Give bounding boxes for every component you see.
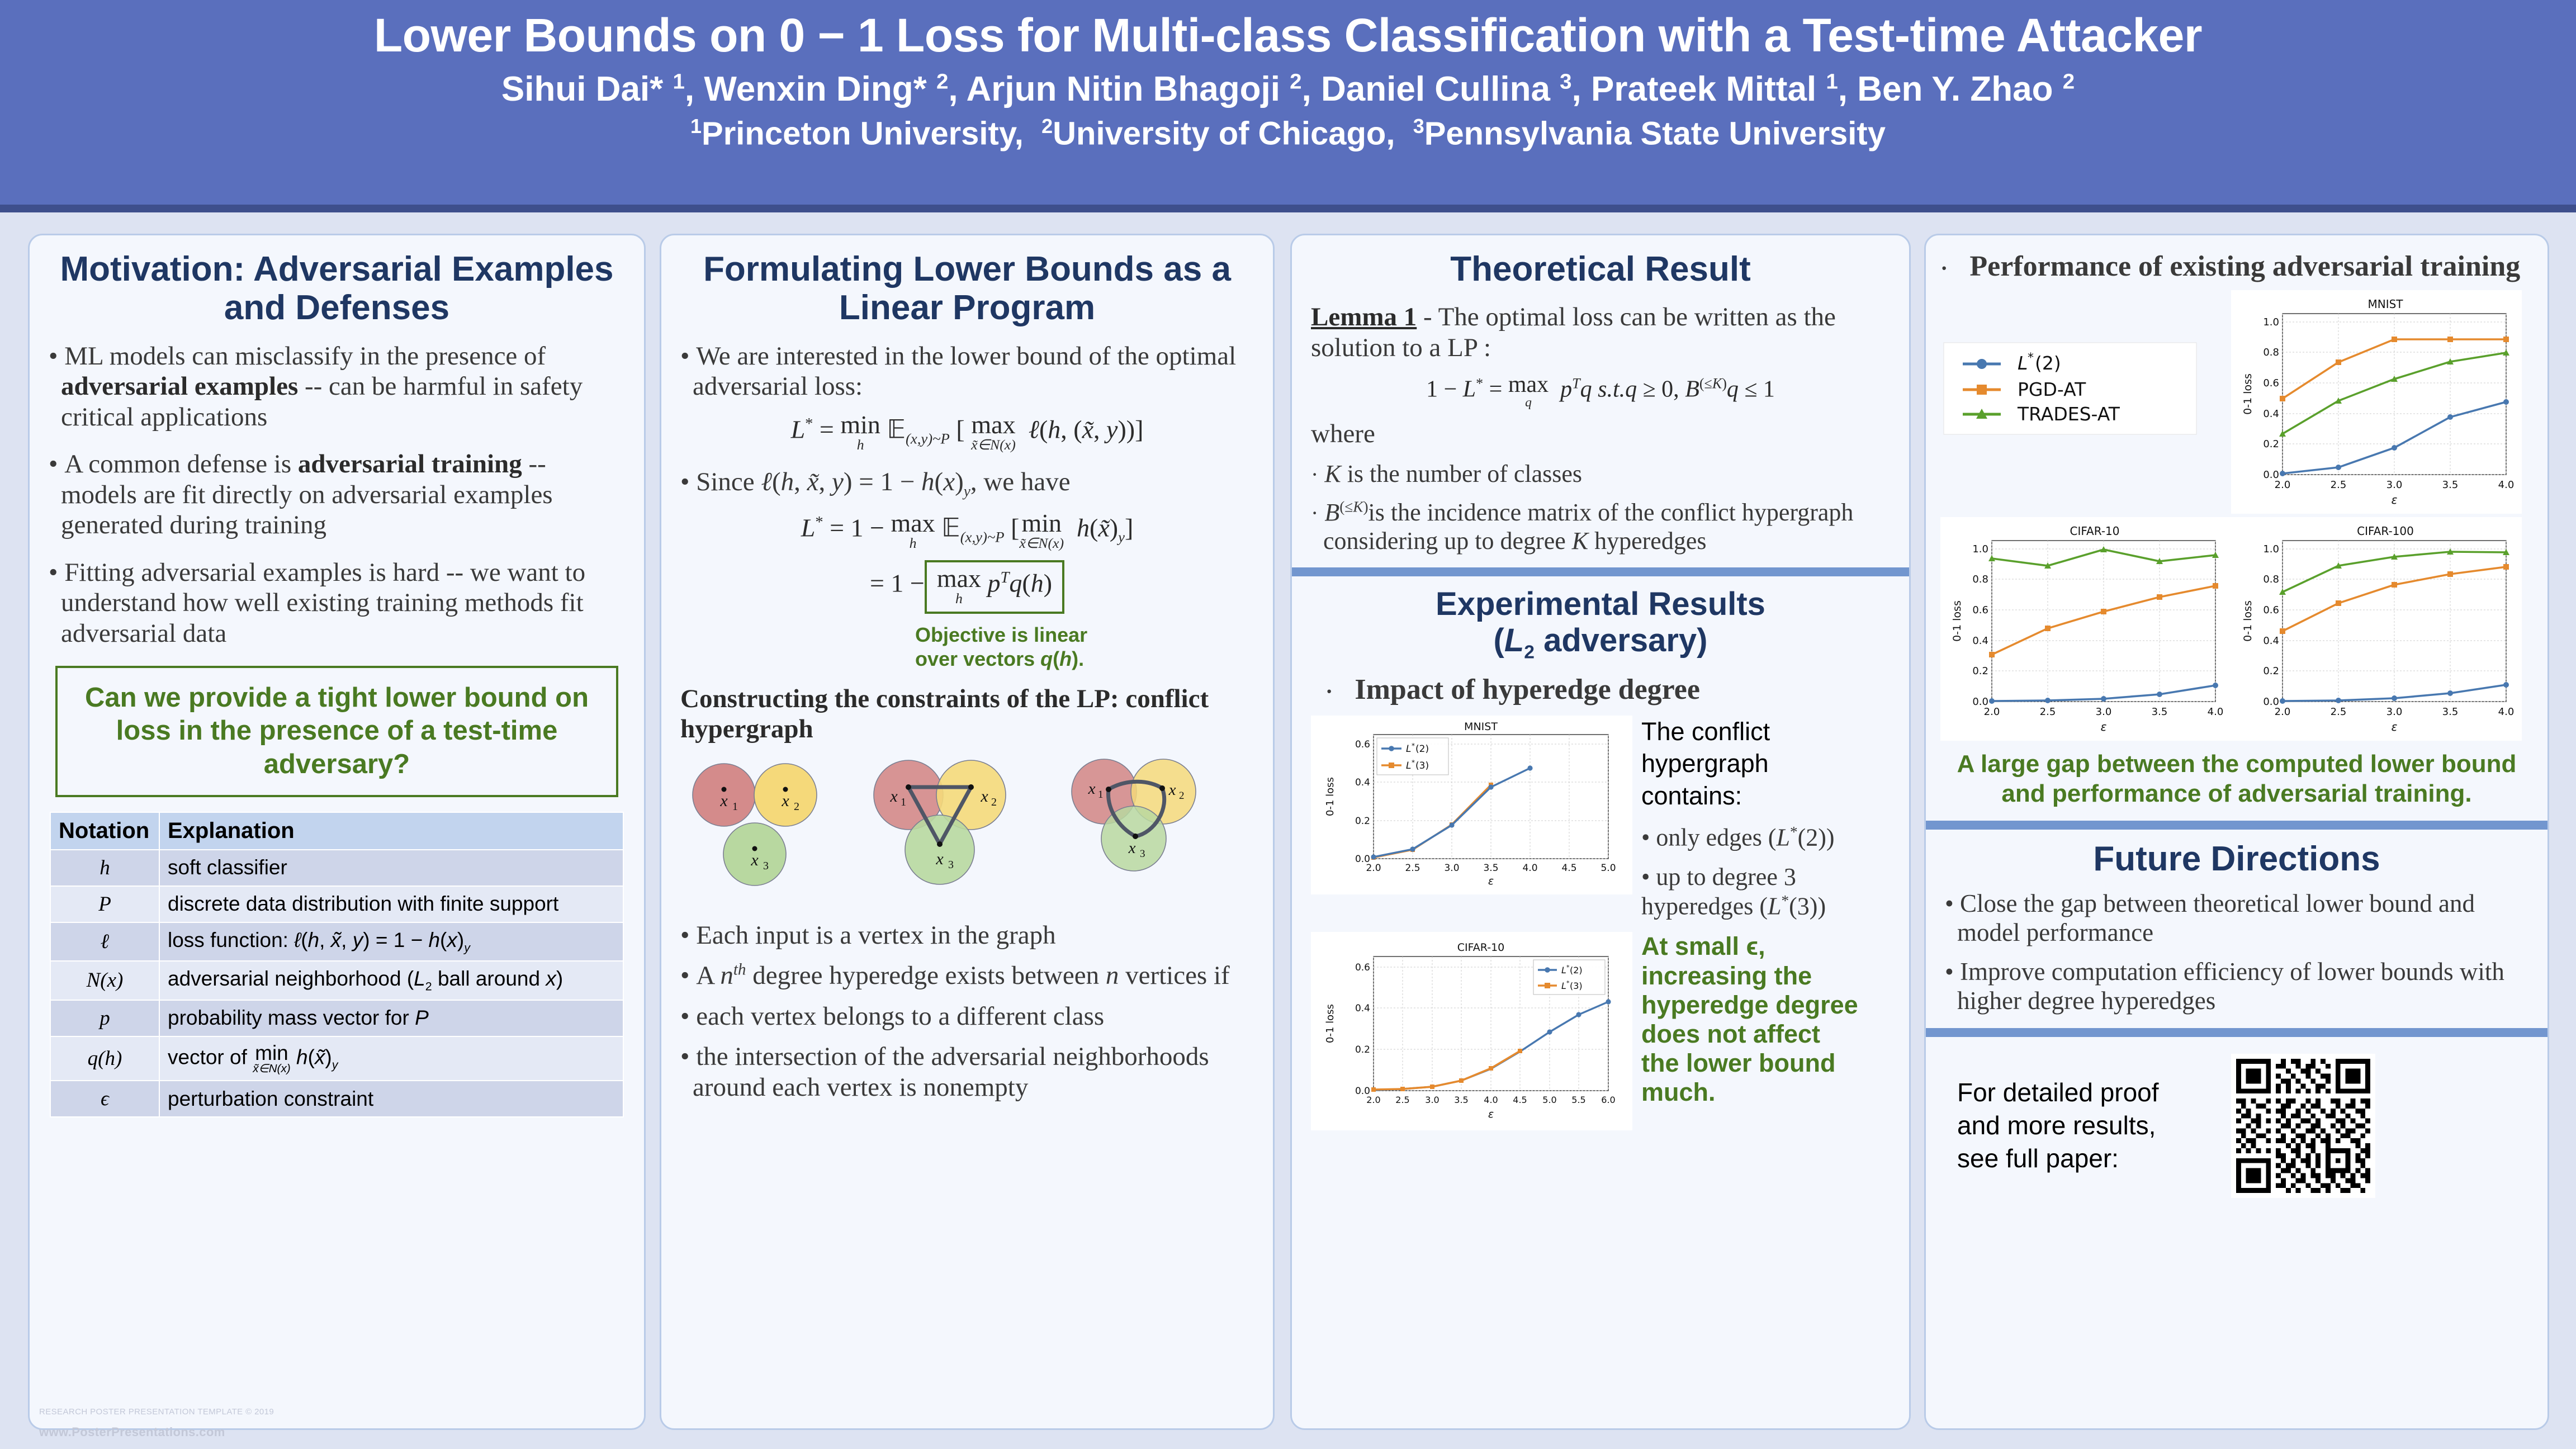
cell-symbol: N(x) [50, 961, 159, 1000]
chart-title: MNIST [1464, 721, 1498, 733]
svg-text:0.4: 0.4 [2263, 408, 2279, 420]
bullet-item: · K is the number of classes [1311, 460, 1890, 488]
notation-table: Notation Explanation h soft classifier P… [50, 812, 624, 1118]
chart-xlabel: ε [1488, 875, 1494, 887]
cell-explanation: perturbation constraint [159, 1081, 623, 1117]
svg-text:3.0: 3.0 [2096, 706, 2112, 718]
svg-text:2.0: 2.0 [1984, 706, 2000, 718]
svg-text:0.4: 0.4 [1972, 635, 1988, 647]
column-motivation: Motivation: Adversarial Examples and Def… [28, 234, 646, 1430]
subsection-performance-existing-at: · Performance of existing adversarial tr… [1940, 250, 2533, 283]
chart-c4-cifar10-svg: CIFAR-10 0.00.2 0.40.6 [1944, 520, 2228, 737]
notes-title: The conflict hypergraph contains: [1641, 716, 1876, 812]
conflict-hypergraph-diagram: x 1 x 2 x 3 [680, 755, 1254, 906]
cell-symbol: h [50, 850, 159, 886]
svg-text:2.0: 2.0 [1366, 863, 1381, 874]
table-row: P discrete data distribution with finite… [50, 886, 623, 922]
chart-c4-cifar100-svg: CIFAR-100 0.00.2 0.40.6 [2234, 520, 2518, 737]
bullet-item: • Improve computation efficiency of lowe… [1945, 957, 2528, 1015]
hypergraph-case-no-edge: x 1 x 2 x 3 [693, 764, 817, 885]
results-row-1: MNIST [1311, 716, 1890, 921]
bullet-item: · B(≤K)is the incidence matrix of the co… [1311, 498, 1890, 555]
svg-text:0.6: 0.6 [1972, 604, 1988, 616]
svg-text:3.5: 3.5 [1454, 1095, 1468, 1105]
cell-symbol: p [50, 1000, 159, 1036]
svg-text:L: L [1561, 981, 1566, 991]
chart-ylabel: 0-1 loss [2242, 373, 2254, 415]
svg-text:6.0: 6.0 [1601, 1095, 1615, 1105]
chart-ylabel: 0-1 loss [2242, 600, 2254, 642]
lemma-statement: Lemma 1 - The optimal loss can be writte… [1311, 302, 1890, 363]
bullet-item: • Close the gap between theoretical lowe… [1945, 889, 2528, 947]
table-row: ℓ loss function: ℓ(h, x̃, y) = 1 − h(x)y [50, 922, 623, 961]
bullet-item: • Each input is a vertex in the graph [680, 920, 1254, 951]
chart-c3-cifar10-svg: CIFAR-10 [1313, 934, 1630, 1128]
svg-text:0.6: 0.6 [2263, 377, 2279, 389]
svg-text:3.0: 3.0 [1425, 1095, 1439, 1105]
bullet-item: • A common defense is adversarial traini… [49, 449, 625, 541]
svg-text:0.2: 0.2 [2263, 438, 2279, 450]
perf-row-top: L * (2) PGD-AT TRADES-AT MNIST [1940, 290, 2533, 514]
poster-header: Lower Bounds on 0 − 1 Loss for Multi-cla… [0, 0, 2576, 212]
cell-symbol: q(h) [50, 1036, 159, 1081]
svg-text:2.0: 2.0 [2275, 479, 2291, 491]
svg-text:2.0: 2.0 [1366, 1095, 1380, 1105]
cell-explanation: adversarial neighborhood (L2 ball around… [159, 961, 623, 1000]
green-callout-gap: A large gap between the computed lower b… [1949, 750, 2524, 809]
svg-text:5.0: 5.0 [1542, 1095, 1556, 1105]
cell-explanation: loss function: ℓ(h, x̃, y) = 1 − h(x)y [159, 922, 623, 961]
svg-text:1: 1 [1098, 789, 1104, 801]
chart-c3-mnist: MNIST [1311, 716, 1632, 894]
cell-symbol: P [50, 886, 159, 922]
svg-text:L: L [2018, 352, 2028, 374]
svg-text:1: 1 [732, 801, 738, 813]
svg-text:2: 2 [794, 801, 799, 813]
svg-text:x: x [781, 792, 789, 810]
bullet-item: • Fitting adversarial examples is hard -… [49, 557, 625, 649]
chart-title: CIFAR-10 [2070, 524, 2120, 538]
perf-row-bottom: CIFAR-10 0.00.2 0.40.6 [1940, 517, 2533, 741]
table-row: p probability mass vector for P [50, 1000, 623, 1036]
equation-optimal-loss: L* = minh 𝔼(x,y)~P [ maxx̃∈N(x) ℓ(h, (x̃… [680, 412, 1254, 452]
chart-ylabel: 0-1 loss [1324, 1004, 1336, 1043]
svg-text:5.5: 5.5 [1571, 1095, 1585, 1105]
svg-text:x: x [1168, 781, 1176, 799]
green-callout-text: At small ϵ, increasing the hyperedge deg… [1641, 932, 1865, 1107]
svg-text:2.5: 2.5 [1405, 863, 1420, 874]
chart-c3-mnist-svg: MNIST [1313, 718, 1630, 892]
col-header-explanation: Explanation [159, 812, 623, 850]
chart-c4-cifar100: CIFAR-100 0.00.2 0.40.6 [2231, 517, 2522, 741]
section-divider [1292, 567, 1909, 576]
author-list: Sihui Dai* 1, Wenxin Ding* 2, Arjun Niti… [0, 69, 2576, 109]
svg-text:0.6: 0.6 [1355, 739, 1370, 750]
svg-text:4.0: 4.0 [2498, 706, 2515, 718]
boxed-objective: maxh pTq(h) [925, 560, 1064, 614]
section-heading-theoretical-result: Theoretical Result [1311, 250, 1890, 288]
svg-text:4.5: 4.5 [1561, 863, 1576, 874]
svg-text:0.8: 0.8 [1972, 574, 1988, 585]
svg-text:x: x [1128, 839, 1136, 857]
svg-text:*: * [1412, 742, 1415, 750]
svg-text:4.0: 4.0 [2208, 706, 2224, 718]
svg-text:0.4: 0.4 [1355, 777, 1370, 788]
chart-xlabel: ε [1488, 1108, 1494, 1120]
section-heading-motivation: Motivation: Adversarial Examples and Def… [49, 250, 625, 328]
svg-text:3.0: 3.0 [2386, 479, 2403, 491]
svg-text:0.2: 0.2 [1972, 665, 1988, 677]
chart-title: MNIST [2367, 297, 2403, 311]
bullet-item: • up to degree 3 hyperedges (L*(3)) [1641, 863, 1876, 921]
svg-text:2.0: 2.0 [2275, 706, 2291, 718]
svg-text:5.0: 5.0 [1600, 863, 1616, 874]
svg-text:0.8: 0.8 [2263, 574, 2279, 585]
green-callout-hyperedge: At small ϵ, increasing the hyperedge deg… [1641, 932, 1865, 1107]
column-performance: · Performance of existing adversarial tr… [1924, 234, 2549, 1430]
bullet-item: • Since ℓ(h, x̃, y) = 1 − h(x)y, we have [680, 467, 1254, 500]
chart-legend: L * (2) L * (3) [1533, 960, 1605, 995]
svg-text:L: L [1406, 744, 1411, 755]
svg-text:x: x [1088, 780, 1096, 798]
svg-text:2: 2 [991, 796, 997, 808]
svg-text:0.4: 0.4 [2263, 635, 2279, 647]
chart-xlabel: ε [2392, 493, 2398, 506]
svg-text:1: 1 [901, 796, 906, 808]
svg-text:x: x [935, 850, 944, 868]
chart-c4-cifar10: CIFAR-10 0.00.2 0.40.6 [1940, 517, 2231, 741]
chart-c3-cifar10: CIFAR-10 [1311, 932, 1632, 1130]
footer-url: www.PosterPresentations.com [39, 1420, 274, 1444]
svg-text:4.5: 4.5 [1513, 1095, 1527, 1105]
svg-text:x: x [750, 851, 759, 869]
bullet-item: • We are interested in the lower bound o… [680, 341, 1254, 402]
chart-ylabel: 0-1 loss [1324, 777, 1336, 816]
svg-text:x: x [980, 787, 988, 806]
svg-text:*: * [1412, 759, 1415, 766]
bullet-item: • A nth degree hyperedge exists between … [680, 960, 1254, 991]
svg-text:2.5: 2.5 [2040, 706, 2056, 718]
svg-text:0.8: 0.8 [2263, 347, 2279, 358]
qr-code[interactable] [2231, 1054, 2375, 1198]
svg-text:3: 3 [763, 860, 769, 872]
column-formulation: Formulating Lower Bounds as a Linear Pro… [660, 234, 1275, 1430]
section-divider [1926, 1028, 2547, 1037]
svg-text:(3): (3) [1570, 981, 1583, 991]
svg-text:4.0: 4.0 [2498, 479, 2515, 491]
svg-text:3.5: 3.5 [2442, 479, 2459, 491]
table-row: q(h) vector of minx̃∈N(x) h(x̃)y [50, 1036, 623, 1081]
results-row-2: CIFAR-10 [1311, 932, 1890, 1130]
svg-text:3.0: 3.0 [2386, 706, 2403, 718]
chart-c4-mnist-svg: MNIST 0.00.2 0.40.6 [2234, 293, 2518, 510]
footer-copyright: RESEARCH POSTER PRESENTATION TEMPLATE © … [39, 1404, 274, 1420]
poster-root: Lower Bounds on 0 − 1 Loss for Multi-cla… [0, 0, 2576, 1449]
section-divider [1926, 821, 2547, 830]
svg-text:(3): (3) [1415, 760, 1429, 771]
equation-rewritten-loss: L* = 1 − maxh 𝔼(x,y)~P [minx̃∈N(x) h(x̃)… [680, 510, 1254, 551]
research-question-box: Can we provide a tight lower bound on lo… [55, 666, 618, 797]
conflict-hypergraph-notes: The conflict hypergraph contains: • only… [1641, 716, 1876, 921]
svg-text:1.0: 1.0 [2263, 316, 2279, 328]
bullet-item: • only edges (L*(2)) [1641, 823, 1876, 853]
qr-code-svg[interactable] [2231, 1054, 2375, 1198]
chart-title: CIFAR-10 [1457, 941, 1505, 954]
cell-symbol: ℓ [50, 922, 159, 961]
bullet-item: • each vertex belongs to a different cla… [680, 1001, 1254, 1032]
bullet-item: • the intersection of the adversarial ne… [680, 1041, 1254, 1102]
chart-ylabel: 0-1 loss [1951, 600, 1963, 642]
svg-text:2.5: 2.5 [2331, 706, 2347, 718]
svg-text:PGD-AT: PGD-AT [2018, 378, 2086, 400]
hypergraph-case-pairwise-edges: x 1 x 2 x 3 [874, 760, 1006, 884]
subsection-heading-constraints: Constructing the constraints of the LP: … [680, 684, 1254, 745]
table-row: h soft classifier [50, 850, 623, 886]
svg-text:0.2: 0.2 [2263, 665, 2279, 677]
cell-explanation: vector of minx̃∈N(x) h(x̃)y [159, 1036, 623, 1081]
svg-text:4.0: 4.0 [1484, 1095, 1498, 1105]
svg-text:0.6: 0.6 [1355, 962, 1370, 973]
svg-text:1.0: 1.0 [1972, 543, 1988, 555]
lemma-label: Lemma 1 [1311, 302, 1417, 332]
section-heading-experimental-results: Experimental Results (L2 adversary) [1311, 586, 1890, 663]
where-label: where [1311, 419, 1890, 449]
svg-text:3.5: 3.5 [1483, 863, 1498, 874]
hypergraph-case-degree3-hyperedge: x 1 x 2 x 3 [1072, 759, 1196, 871]
svg-text:*: * [2028, 351, 2034, 365]
table-row: ϵ perturbation constraint [50, 1081, 623, 1117]
equation-linear-objective: = 1 −maxh pTq(h) [680, 560, 1254, 614]
chart-xlabel: ε [2101, 720, 2107, 733]
svg-text:(2): (2) [1570, 965, 1583, 976]
hypergraph-svg: x 1 x 2 x 3 [680, 755, 1251, 903]
svg-text:3.5: 3.5 [2442, 706, 2459, 718]
col-header-notation: Notation [50, 812, 159, 850]
section-heading-formulation: Formulating Lower Bounds as a Linear Pro… [680, 250, 1254, 328]
svg-text:3.0: 3.0 [1444, 863, 1459, 874]
research-question-text: Can we provide a tight lower bound on lo… [85, 683, 589, 780]
svg-text:x: x [719, 792, 728, 810]
bullet-item: • ML models can misclassify in the prese… [49, 341, 625, 433]
svg-text:x: x [889, 787, 898, 806]
subsection-impact-hyperedge-degree: · Impact of hyperedge degree [1325, 673, 1890, 707]
svg-text:TRADES-AT: TRADES-AT [2017, 403, 2120, 425]
svg-text:L: L [1406, 760, 1411, 771]
svg-text:3: 3 [948, 859, 954, 871]
qr-block: For detailed proofand more results,see f… [1926, 1037, 2547, 1198]
chart-xlabel: ε [2392, 720, 2398, 733]
legend-card: L * (2) PGD-AT TRADES-AT [1940, 290, 2231, 448]
table-row: N(x) adversarial neighborhood (L2 ball a… [50, 961, 623, 1000]
section-heading-future-directions: Future Directions [1945, 840, 2528, 878]
svg-text:0.2: 0.2 [1355, 1044, 1370, 1055]
cell-symbol: ϵ [50, 1081, 159, 1117]
svg-text:0.6: 0.6 [2263, 604, 2279, 616]
svg-text:4.0: 4.0 [1522, 863, 1537, 874]
svg-text:(2): (2) [1415, 744, 1429, 755]
svg-text:2.5: 2.5 [1395, 1095, 1409, 1105]
affiliation-list: 1Princeton University, 2University of Ch… [0, 115, 2576, 153]
column-results: Theoretical Result Lemma 1 - The optimal… [1290, 234, 1911, 1430]
svg-text:L: L [1561, 965, 1566, 976]
svg-text:2: 2 [1179, 790, 1185, 802]
page-title: Lower Bounds on 0 − 1 Loss for Multi-cla… [0, 9, 2576, 61]
cell-explanation: soft classifier [159, 850, 623, 886]
cell-explanation: discrete data distribution with finite s… [159, 886, 623, 922]
svg-text:2.5: 2.5 [2331, 479, 2347, 491]
objective-caption: Objective is linearover vectors q(h). [915, 623, 1254, 671]
svg-text:1.0: 1.0 [2263, 543, 2279, 555]
qr-caption: For detailed proofand more results,see f… [1957, 1076, 2214, 1175]
equation-lemma-lp: 1 − L* = maxq pTq s.t.q ≥ 0, B(≤K)q ≤ 1 [1311, 373, 1890, 410]
svg-text:3: 3 [1140, 848, 1145, 860]
chart-title: CIFAR-100 [2357, 524, 2414, 538]
svg-text:3.5: 3.5 [2152, 706, 2168, 718]
chart-legend: L * (2) L * (3) [1377, 738, 1448, 775]
template-footer: RESEARCH POSTER PRESENTATION TEMPLATE © … [39, 1404, 274, 1443]
table-header-row: Notation Explanation [50, 812, 623, 850]
svg-text:(2): (2) [2035, 352, 2061, 374]
svg-text:0.4: 0.4 [1355, 1003, 1370, 1014]
legend-svg: L * (2) PGD-AT TRADES-AT [1940, 339, 2203, 446]
svg-text:0.2: 0.2 [1355, 816, 1370, 827]
chart-c4-mnist: MNIST 0.00.2 0.40.6 [2231, 290, 2522, 514]
cell-explanation: probability mass vector for P [159, 1000, 623, 1036]
